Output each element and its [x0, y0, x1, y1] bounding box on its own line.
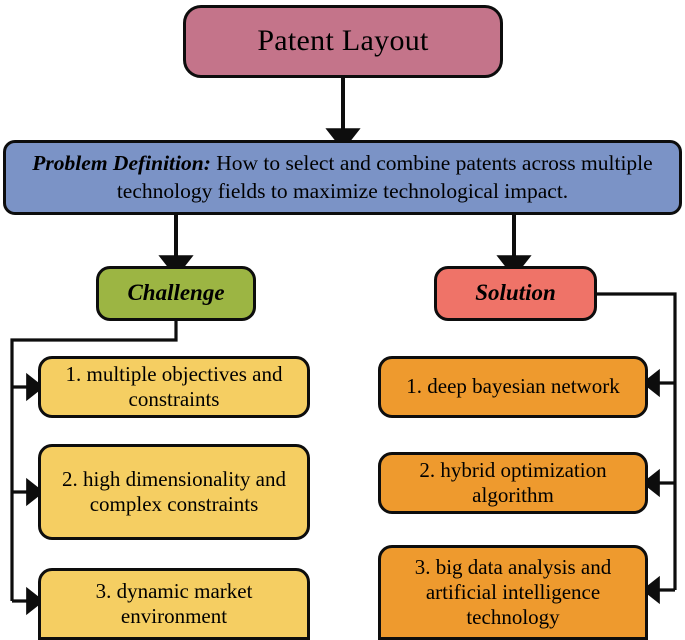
challenge-item-1: 1. multiple objectives and constraints: [38, 356, 310, 418]
problem-definition-node: Problem Definition: How to select and co…: [3, 140, 682, 215]
title-node: Patent Layout: [183, 5, 503, 78]
solution-label: Solution: [437, 281, 594, 306]
challenge-item-2: 2. high dimensionality and complex const…: [38, 444, 310, 540]
solution-item-1: 1. deep bayesian network: [378, 356, 648, 418]
challenge-node: Challenge: [96, 266, 256, 321]
challenge-item-3: 3. dynamic market environment: [38, 568, 310, 640]
challenge-item-3-label: 3. dynamic market environment: [41, 579, 307, 629]
challenge-label: Challenge: [99, 281, 253, 306]
solution-item-3-label: 3. big data analysis and artificial inte…: [381, 555, 645, 631]
solution-item-2-label: 2. hybrid optimization algorithm: [381, 458, 645, 508]
solution-item-3: 3. big data analysis and artificial inte…: [378, 545, 648, 640]
challenge-item-1-label: 1. multiple objectives and constraints: [41, 362, 307, 412]
problem-definition-lead: Problem Definition:: [32, 151, 211, 175]
title-label: Patent Layout: [186, 25, 500, 57]
solution-item-1-label: 1. deep bayesian network: [381, 374, 645, 399]
solution-item-2: 2. hybrid optimization algorithm: [378, 452, 648, 514]
challenge-item-2-label: 2. high dimensionality and complex const…: [41, 467, 307, 517]
problem-definition-text: Problem Definition: How to select and co…: [6, 150, 679, 205]
solution-node: Solution: [434, 266, 597, 321]
flowchart-canvas: Patent Layout Problem Definition: How to…: [0, 0, 685, 640]
